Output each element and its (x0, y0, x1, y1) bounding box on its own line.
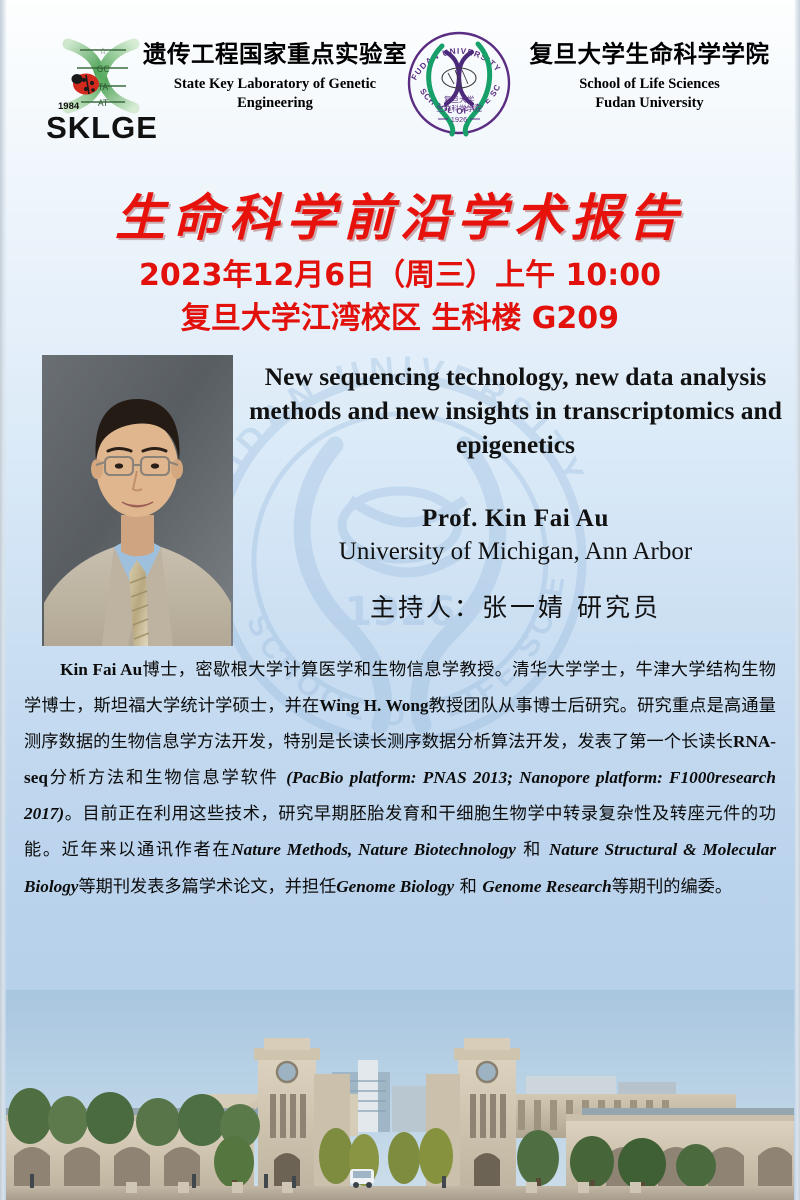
talk-title: New sequencing technology, new data anal… (243, 360, 788, 462)
speaker-bio: Kin Fai Au博士，密歇根大学计算医学和生物信息学教授。清华大学学士，牛津… (24, 652, 776, 905)
fudan-sls-logo-icon: FUDAN UNIVERSITY SCHOOL OF LIFE SCIENCES… (400, 22, 518, 144)
speaker-name: Prof. Kin Fai Au (243, 505, 788, 533)
fudan-name-en-line1: School of Life Sciences (579, 76, 720, 92)
fudan-name-en: School of Life Sciences Fudan University (512, 75, 787, 113)
svg-text:AT: AT (98, 99, 109, 109)
bio-segment: 和 (454, 877, 482, 897)
fudan-logo-cn-line2: 生命科学学院 (436, 103, 482, 113)
fudan-name-cn: 复旦大学生命科学学院 (512, 42, 787, 68)
fudan-name-block: 复旦大学生命科学学院 School of Life Sciences Fudan… (512, 42, 787, 113)
speaker-portrait (42, 355, 233, 646)
bio-segment: Kin Fai Au (60, 660, 142, 679)
bio-segment: 等期刊发表多篇学术论文，并担任 (78, 877, 336, 897)
fudan-name-en-line2: Fudan University (595, 95, 703, 111)
campus-photo (6, 990, 794, 1200)
fudan-logo-year: 1926 (451, 115, 467, 124)
svg-text:☆: ☆ (99, 47, 107, 57)
poster-header: ☆ GC TA AT 1984 SKLGE 遗传工程国家重点实验室 State … (0, 0, 800, 160)
sklge-name-en-line1: State Key Laboratory of Genetic (174, 76, 376, 92)
bio-segment: Genome Research (482, 877, 611, 896)
sklge-name-en: State Key Laboratory of Genetic Engineer… (140, 75, 410, 113)
svg-text:GC: GC (97, 65, 110, 75)
sklge-name-en-line2: Engineering (237, 95, 313, 111)
event-venue: 复旦大学江湾校区 生科楼 G209 (0, 293, 800, 337)
sklge-logo-wordmark: SKLGE (46, 110, 158, 144)
speaker-affiliation: University of Michigan, Ann Arbor (243, 538, 788, 566)
bio-segment: 等期刊的编委。 (612, 877, 732, 897)
sklge-name-cn: 遗传工程国家重点实验室 (140, 42, 410, 68)
bio-segment: 分析方法和生物信息学软件 (48, 768, 286, 788)
series-title: 生命科学前沿学术报告 (0, 178, 800, 250)
sklge-name-block: 遗传工程国家重点实验室 State Key Laboratory of Gene… (140, 42, 410, 113)
bio-segment: Genome Biology (336, 877, 454, 896)
bio-segment: 和 (516, 840, 549, 860)
event-datetime: 2023年12月6日（周三）上午 10:00 (0, 250, 800, 294)
host-line: 主持人：张一婧 研究员 (243, 588, 788, 624)
seminar-poster: FUDAN UNIVERSITY SCHOOL OF LIFE SCIENCES… (0, 0, 800, 1200)
fudan-logo-cn-line1: 复旦大学 (444, 94, 475, 104)
bio-segment: Wing H. Wong (319, 696, 428, 715)
bio-segment: Nature Methods, Nature Biotechnology (231, 840, 516, 859)
